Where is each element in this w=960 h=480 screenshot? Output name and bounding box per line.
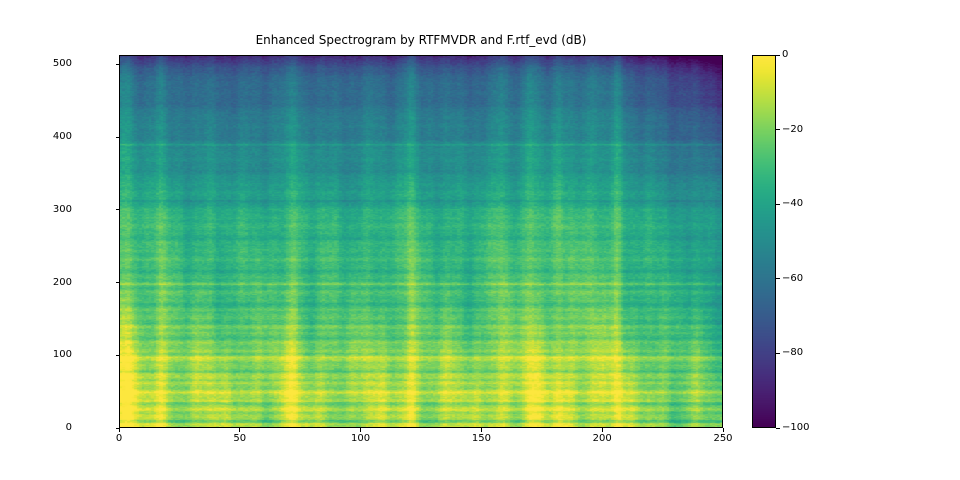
colorbar-tick-mark	[776, 204, 780, 205]
colorbar-tick-mark	[776, 428, 780, 429]
y-tick-label: 300	[53, 205, 72, 215]
x-tick-mark	[239, 428, 240, 432]
x-tick-mark	[360, 428, 361, 432]
colorbar-tick-mark	[776, 353, 780, 354]
y-tick-label: 200	[53, 278, 72, 288]
matplotlib-figure: Enhanced Spectrogram by RTFMVDR and F.rt…	[0, 0, 960, 480]
y-tick-mark	[116, 137, 120, 138]
y-tick-label: 0	[66, 423, 72, 433]
colorbar-tick-mark	[776, 278, 780, 279]
colorbar-axes	[752, 55, 776, 428]
y-tick-label: 100	[53, 350, 72, 360]
x-tick-label: 0	[89, 434, 149, 444]
x-tick-label: 100	[331, 434, 391, 444]
x-tick-mark	[119, 428, 120, 432]
y-tick-mark	[116, 209, 120, 210]
colorbar-tick-mark	[776, 129, 780, 130]
colorbar-tick-label: −20	[782, 125, 803, 135]
spectrogram-axes	[119, 55, 723, 428]
colorbar-tick-label: −80	[782, 348, 803, 358]
x-tick-mark	[723, 428, 724, 432]
colorbar-tick-mark	[776, 55, 780, 56]
x-tick-mark	[602, 428, 603, 432]
x-tick-label: 150	[451, 434, 511, 444]
colorbar-tick-label: −40	[782, 199, 803, 209]
x-tick-mark	[481, 428, 482, 432]
y-tick-mark	[116, 282, 120, 283]
colorbar-gradient	[753, 56, 775, 427]
x-tick-label: 50	[210, 434, 270, 444]
x-tick-label: 200	[572, 434, 632, 444]
colorbar-tick-label: −60	[782, 274, 803, 284]
y-tick-mark	[116, 64, 120, 65]
page-title: Enhanced Spectrogram by RTFMVDR and F.rt…	[119, 33, 723, 47]
y-tick-label: 400	[53, 132, 72, 142]
y-tick-mark	[116, 355, 120, 356]
colorbar-tick-label: −100	[782, 423, 809, 433]
colorbar-tick-label: 0	[782, 50, 788, 60]
spectrogram-image	[120, 56, 722, 427]
x-tick-label: 250	[693, 434, 753, 444]
y-tick-label: 500	[53, 59, 72, 69]
